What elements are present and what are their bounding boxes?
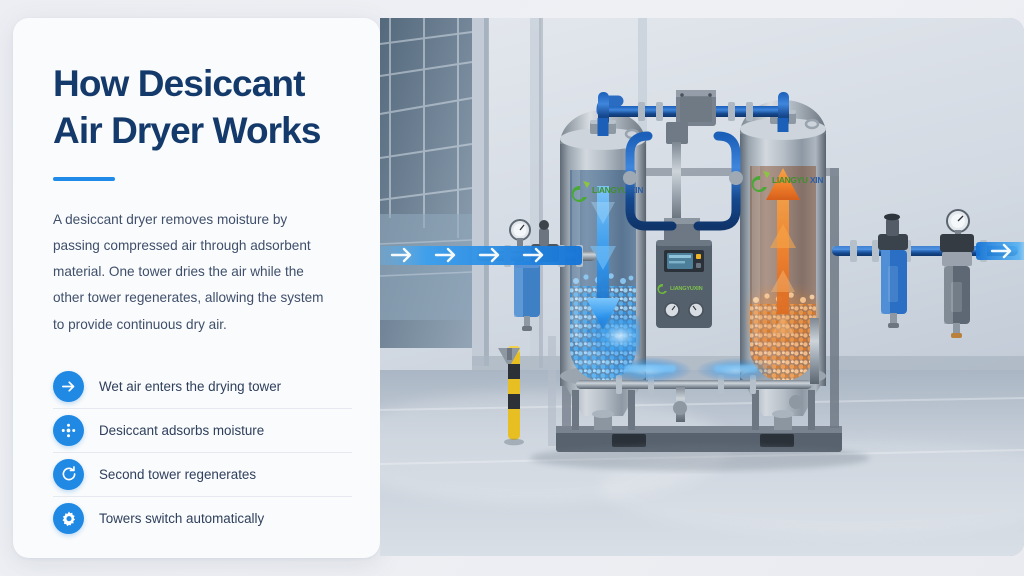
svg-text:LIANGYUXIN: LIANGYUXIN: [670, 286, 703, 292]
step-list: Wet air enters the drying tower Desiccan…: [53, 365, 352, 541]
step-label: Second tower regenerates: [99, 466, 256, 483]
step-label: Towers switch automatically: [99, 510, 264, 527]
step-label: Wet air enters the drying tower: [99, 378, 281, 395]
svg-text:XIN: XIN: [810, 175, 823, 185]
arrow-right-icon: [53, 371, 84, 402]
product-photo: LIANGYU XIN: [380, 18, 1024, 556]
desiccant-dryer-illustration: LIANGYU XIN: [380, 18, 1024, 556]
title-accent-rule: [53, 177, 115, 181]
intro-paragraph: A desiccant dryer removes moisture by pa…: [53, 207, 331, 338]
card-content: How Desiccant Air Dryer Works A desiccan…: [53, 60, 352, 541]
step-label: Desiccant adsorbs moisture: [99, 422, 264, 439]
refresh-icon: [53, 459, 84, 490]
step-item-wet-air-enters[interactable]: Wet air enters the drying tower: [53, 365, 352, 409]
gear-icon: [53, 503, 84, 534]
step-item-second-tower-regenerates[interactable]: Second tower regenerates: [53, 453, 352, 497]
svg-text:LIANGYU: LIANGYU: [772, 175, 808, 185]
content-card: How Desiccant Air Dryer Works A desiccan…: [13, 18, 380, 558]
inlet-airflow-band: [380, 246, 582, 265]
svg-text:LIANGYU: LIANGYU: [592, 185, 628, 195]
outlet-airflow-band: [976, 242, 1024, 260]
step-item-towers-switch[interactable]: Towers switch automatically: [53, 497, 352, 541]
control-panel[interactable]: LIANGYUXIN: [656, 240, 712, 328]
dots-cluster-icon: [53, 415, 84, 446]
step-item-desiccant-adsorbs[interactable]: Desiccant adsorbs moisture: [53, 409, 352, 453]
page-title: How Desiccant Air Dryer Works: [53, 60, 352, 155]
